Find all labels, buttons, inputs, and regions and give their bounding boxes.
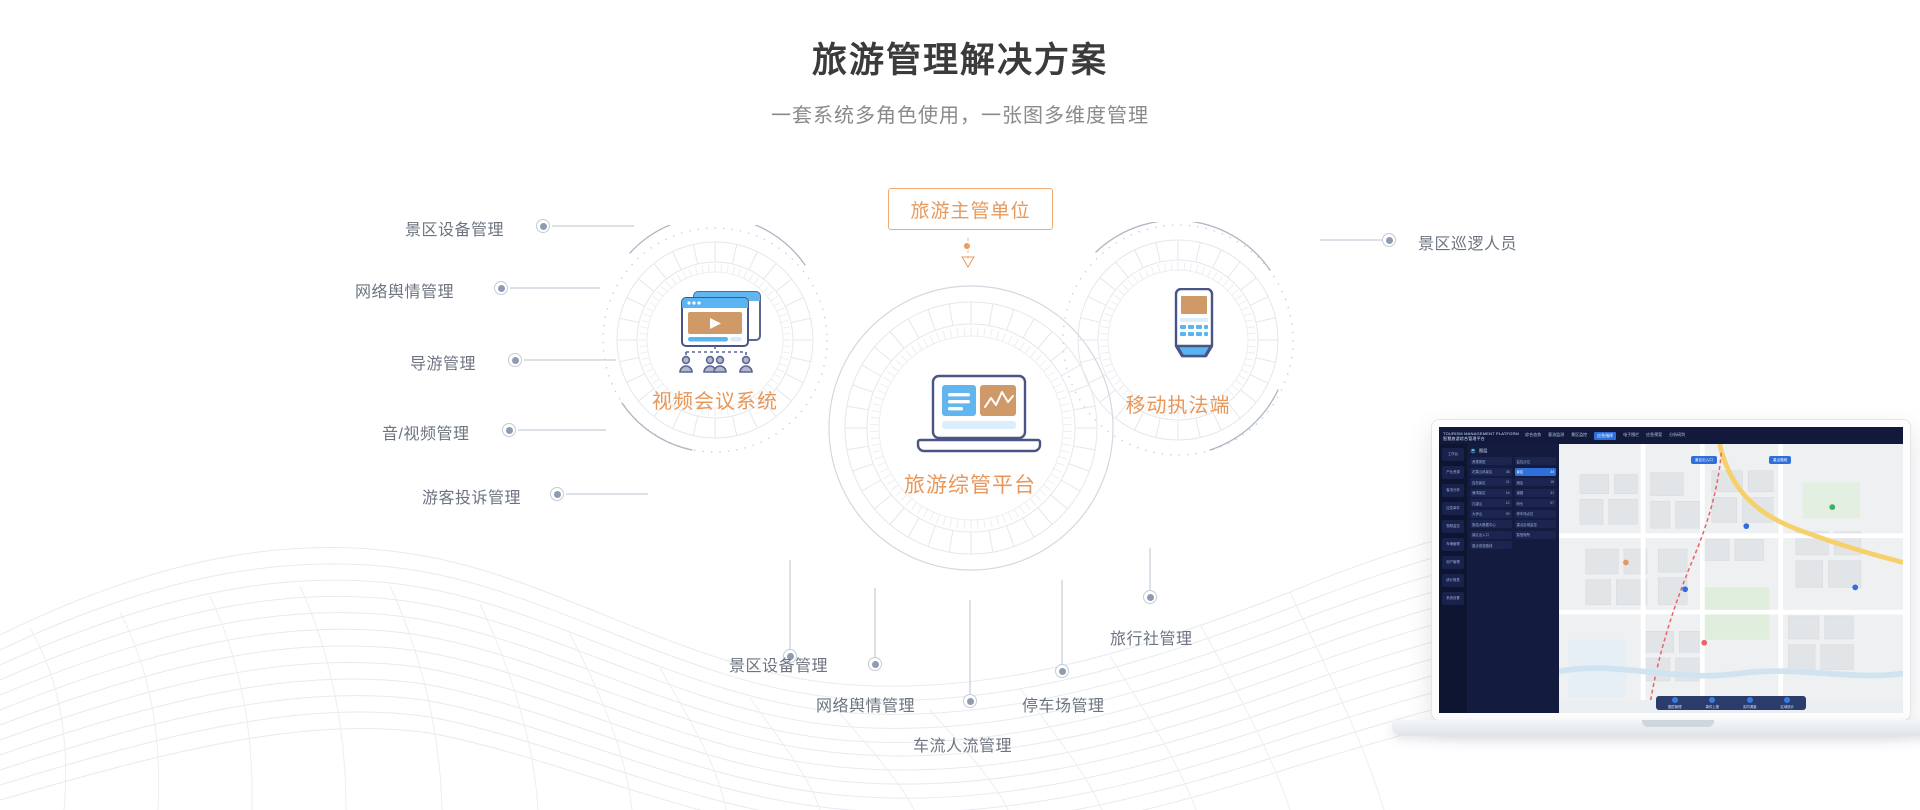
- left-label-1[interactable]: 网络舆情管理: [355, 278, 454, 302]
- gov-unit-label: 旅游主管单位: [910, 196, 1030, 223]
- panel-row-l2-label: 渔湾景区: [1472, 490, 1486, 495]
- panel-row-l3-label: 孔望山: [1472, 501, 1482, 506]
- panel-right-row-2[interactable]: 重点巡查路线: [1470, 541, 1512, 549]
- page-title: 旅游管理解决方案: [0, 40, 1920, 82]
- map-chip-1[interactable]: 重点路段: [1769, 456, 1791, 464]
- panel-row-l4-label: 大伊山: [1472, 511, 1482, 516]
- node-tourism-platform[interactable]: 旅游综管平台: [890, 372, 1050, 499]
- map-toolbar-label-3: 区域统计: [1780, 704, 1794, 709]
- panel-row-r0-label: 景区: [1517, 469, 1524, 474]
- map-toolbar: 图层管理 事件上报 实时调度 区域统计: [1656, 696, 1806, 710]
- panel-row-r3-count: 07: [1550, 501, 1554, 505]
- map-toolbar-icon-2: [1747, 697, 1753, 703]
- panel-group-title-0: 资源类型: [1470, 457, 1512, 465]
- panel-row-r1-label: 酒店: [1517, 480, 1524, 485]
- layer-panel-title: 图层: [1470, 448, 1556, 454]
- dashboard-preview: TOURISM MANAGEMENT PLATFORM 智慧旅游综合管理平台 综…: [1439, 427, 1903, 713]
- rail-item-6[interactable]: 用户管理: [1442, 556, 1464, 569]
- map-toolbar-icon-0: [1672, 697, 1678, 703]
- right-bullet-0[interactable]: [1382, 233, 1396, 247]
- map-toolbar-item-1[interactable]: 事件上报: [1705, 697, 1719, 709]
- dashboard-layer-panel: 图层 资源类型 花果山风景区 38 连岛景区 21: [1467, 444, 1559, 713]
- panel-row-r0[interactable]: 景区 24: [1515, 468, 1557, 476]
- dashboard-side-rail: 工作台 产业资源 客流分析 应急事件 视频监控 车辆管理 用户管理 统计报表 系…: [1439, 444, 1467, 713]
- left-label-0[interactable]: 景区设备管理: [405, 216, 504, 240]
- panel-row-r1-count: 18: [1550, 480, 1554, 484]
- map-chip-0[interactable]: 景区出入口: [1691, 456, 1717, 464]
- panel-row-l1-count: 21: [1506, 480, 1510, 484]
- map-toolbar-item-3[interactable]: 区域统计: [1780, 697, 1794, 709]
- bottom-label-0[interactable]: 景区设备管理: [729, 652, 828, 676]
- panel-row-r3[interactable]: 码头 07: [1515, 499, 1557, 507]
- node-label-mobile-enforcement: 移动执法端: [1118, 389, 1238, 418]
- panel-row-l0-label: 花果山风景区: [1472, 469, 1492, 474]
- node-mobile-enforcement[interactable]: 移动执法端: [1118, 288, 1238, 418]
- dashboard-menu-item-0[interactable]: 综合态势: [1525, 432, 1541, 440]
- bottom-bullet-4[interactable]: [1143, 590, 1157, 604]
- gov-unit-chip[interactable]: 旅游主管单位: [888, 188, 1053, 230]
- panel-row-l2-count: 16: [1506, 491, 1510, 495]
- left-label-2[interactable]: 导游管理: [410, 350, 476, 374]
- dashboard-menu-item-2[interactable]: 景区监控: [1571, 432, 1587, 440]
- dashboard-menu-item-1[interactable]: 客流监测: [1548, 432, 1564, 440]
- panel-row-r2-count: 31: [1550, 491, 1554, 495]
- map-toolbar-label-1: 事件上报: [1705, 704, 1719, 709]
- bottom-label-3[interactable]: 停车场管理: [1022, 692, 1105, 716]
- panel-right-row-0[interactable]: 旅游大数据中心: [1470, 520, 1512, 528]
- panel-row-r0-count: 24: [1550, 470, 1554, 474]
- gov-unit-stem: [967, 238, 969, 260]
- node-label-video-conference: 视频会议系统: [645, 385, 785, 414]
- bottom-label-2[interactable]: 车流人流管理: [913, 732, 1012, 756]
- dashboard-brand-name: 智慧旅游综合管理平台: [1443, 436, 1519, 441]
- panel-right-row-5[interactable]: 智慧厕所: [1515, 531, 1557, 539]
- panel-row-l1-label: 连岛景区: [1472, 480, 1486, 485]
- left-label-3[interactable]: 音/视频管理: [382, 420, 469, 444]
- node-video-conference[interactable]: 视频会议系统: [645, 288, 785, 414]
- map-toolbar-icon-3: [1784, 697, 1790, 703]
- layer-panel-title-text: 图层: [1479, 448, 1487, 454]
- laptop-mockup: TOURISM MANAGEMENT PLATFORM 智慧旅游综合管理平台 综…: [1432, 420, 1920, 760]
- layer-panel-col-left: 资源类型 花果山风景区 38 连岛景区 21 渔湾景区 1: [1470, 457, 1512, 549]
- map-toolbar-icon-1: [1709, 697, 1715, 703]
- map-toolbar-item-0[interactable]: 图层管理: [1668, 697, 1682, 709]
- panel-row-l2[interactable]: 渔湾景区 16: [1470, 489, 1512, 497]
- left-bullet-2[interactable]: [508, 353, 522, 367]
- layer-panel-col-right: 监控点位 景区 24 酒店 18 道路 31: [1515, 457, 1557, 549]
- panel-row-r2[interactable]: 道路 31: [1515, 489, 1557, 497]
- panel-row-l4-count: 09: [1506, 512, 1510, 516]
- panel-row-l0-count: 38: [1506, 470, 1510, 474]
- rail-item-1[interactable]: 产业资源: [1442, 466, 1464, 479]
- page-header: 旅游管理解决方案 一套系统多角色使用，一张图多维度管理: [0, 40, 1920, 128]
- left-label-4[interactable]: 游客投诉管理: [422, 484, 521, 508]
- left-bullet-4[interactable]: [550, 487, 564, 501]
- map-canvas: [1559, 444, 1903, 700]
- left-bullet-1[interactable]: [494, 281, 508, 295]
- bottom-label-4[interactable]: 旅行社管理: [1110, 625, 1193, 649]
- panel-right-row-3[interactable]: 停车场点位: [1515, 510, 1557, 518]
- rail-item-0[interactable]: 工作台: [1442, 448, 1464, 461]
- layers-icon: [1470, 448, 1476, 454]
- bottom-label-1[interactable]: 网络舆情管理: [816, 692, 915, 716]
- handheld-terminal-icon: [1165, 288, 1223, 378]
- dashboard-top-menu: 综合态势 客流监测 景区监控 应急指挥 电子围栏 应急预案 分析研判: [1525, 432, 1685, 440]
- panel-row-l3[interactable]: 孔望山 12: [1470, 499, 1512, 507]
- left-bullet-3[interactable]: [502, 423, 516, 437]
- dashboard-menu-item-6[interactable]: 分析研判: [1669, 432, 1685, 440]
- rail-item-3[interactable]: 应急事件: [1442, 502, 1464, 515]
- panel-row-r1[interactable]: 酒店 18: [1515, 478, 1557, 486]
- dashboard-topbar: TOURISM MANAGEMENT PLATFORM 智慧旅游综合管理平台 综…: [1439, 427, 1903, 444]
- map-toolbar-item-2[interactable]: 实时调度: [1743, 697, 1757, 709]
- layer-panel-columns: 资源类型 花果山风景区 38 连岛景区 21 渔湾景区 1: [1470, 457, 1556, 549]
- dashboard-menu-item-3[interactable]: 应急指挥: [1594, 432, 1616, 440]
- panel-row-r3-label: 码头: [1517, 501, 1524, 506]
- map-toolbar-label-0: 图层管理: [1668, 704, 1682, 709]
- panel-row-l3-count: 12: [1506, 501, 1510, 505]
- panel-row-l1[interactable]: 连岛景区 21: [1470, 478, 1512, 486]
- bottom-bullet-2[interactable]: [963, 694, 977, 708]
- video-window-icon: [668, 288, 778, 374]
- map-toolbar-label-2: 实时调度: [1743, 704, 1757, 709]
- dashboard-menu-item-4[interactable]: 电子围栏: [1623, 432, 1639, 440]
- rail-item-5[interactable]: 车辆管理: [1442, 538, 1464, 551]
- dashboard-menu-item-5[interactable]: 应急预案: [1646, 432, 1662, 440]
- dashboard-brand-sub: TOURISM MANAGEMENT PLATFORM: [1443, 431, 1519, 436]
- node-label-tourism-platform: 旅游综管平台: [890, 469, 1050, 499]
- bottom-bullet-3[interactable]: [1055, 664, 1069, 678]
- laptop-notch: [1642, 720, 1714, 727]
- panel-group-title-1: 监控点位: [1515, 457, 1557, 465]
- rail-item-4[interactable]: 视频监控: [1442, 520, 1464, 533]
- rail-item-7[interactable]: 统计报表: [1442, 574, 1464, 587]
- dashboard-brand: TOURISM MANAGEMENT PLATFORM 智慧旅游综合管理平台: [1443, 431, 1519, 441]
- left-bullet-0[interactable]: [536, 219, 550, 233]
- laptop-dashboard-icon: [916, 372, 1042, 458]
- right-label-0[interactable]: 景区巡逻人员: [1418, 230, 1517, 254]
- rail-item-2[interactable]: 客流分析: [1442, 484, 1464, 497]
- panel-right-row-1[interactable]: 景区出入口: [1470, 531, 1512, 539]
- panel-right-row-4[interactable]: 重点区域监控: [1515, 520, 1557, 528]
- panel-row-l0[interactable]: 花果山风景区 38: [1470, 468, 1512, 476]
- page-subtitle: 一套系统多角色使用，一张图多维度管理: [0, 99, 1920, 128]
- panel-row-l4[interactable]: 大伊山 09: [1470, 510, 1512, 518]
- dashboard-map[interactable]: 景区出入口 重点路段 图层管理 事件上报 实时调度: [1559, 444, 1903, 713]
- panel-row-r2-label: 道路: [1517, 490, 1524, 495]
- bottom-bullet-1[interactable]: [868, 657, 882, 671]
- laptop-screen: TOURISM MANAGEMENT PLATFORM 智慧旅游综合管理平台 综…: [1432, 420, 1910, 720]
- rail-item-8[interactable]: 系统设置: [1442, 592, 1464, 605]
- dashboard-body: 工作台 产业资源 客流分析 应急事件 视频监控 车辆管理 用户管理 统计报表 系…: [1439, 444, 1903, 713]
